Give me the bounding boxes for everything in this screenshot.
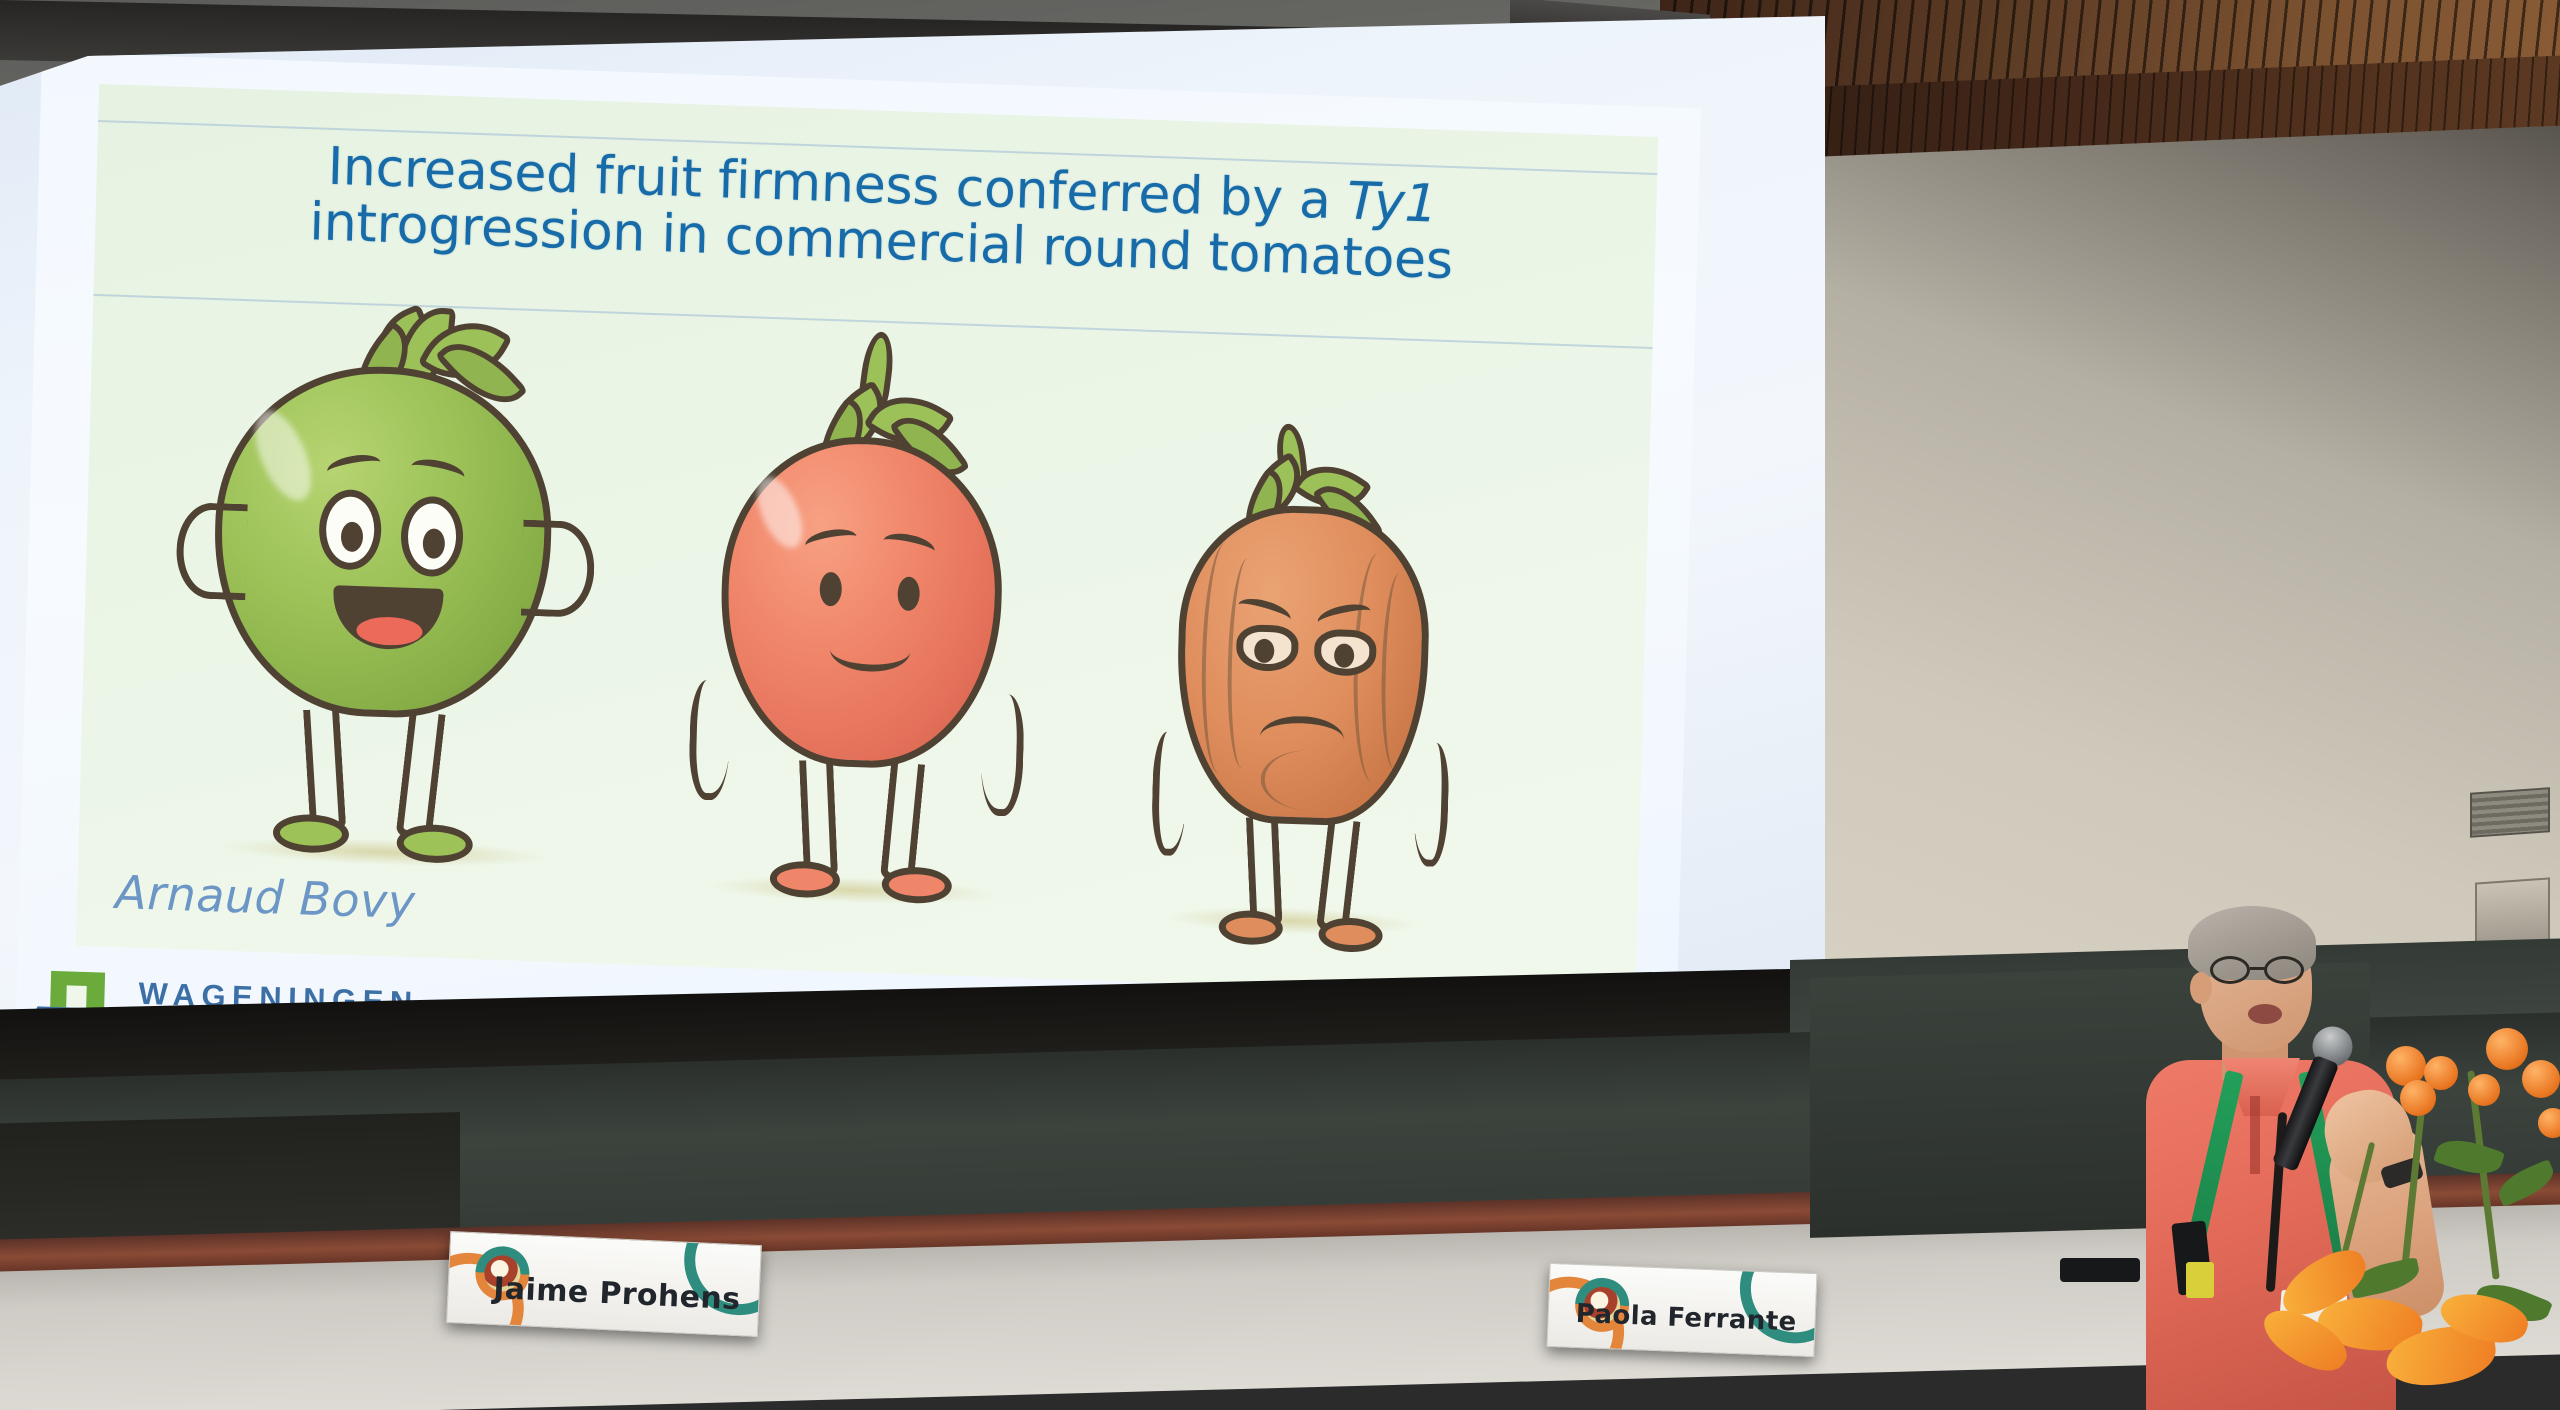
desk-cable-item <box>2060 1258 2140 1282</box>
desk-tape-item <box>2186 1262 2214 1298</box>
nameplate-paola-ferrante: Paola Ferrante <box>1546 1263 1817 1357</box>
presentation-photo-scene: Increased fruit firmness conferred by a … <box>0 0 2560 1410</box>
slide-title-gene: Ty1 <box>1346 172 1438 235</box>
wall-vent-icon <box>2470 787 2550 838</box>
nameplate-jaime-prohens: Jaime Prohens <box>446 1231 762 1337</box>
slide-title: Increased fruit firmness conferred by a … <box>135 133 1629 295</box>
glasses-icon <box>2206 956 2312 986</box>
flower-arrangement <box>2290 1050 2560 1410</box>
green-tomato-character <box>188 313 623 887</box>
slide: Increased fruit firmness conferred by a … <box>15 52 1701 1118</box>
overripe-tomato-character <box>1136 445 1489 956</box>
ripe-tomato-character <box>677 379 1071 922</box>
slide-content-area: Increased fruit firmness conferred by a … <box>76 84 1658 999</box>
polo-placket <box>2250 1096 2260 1174</box>
speaker-mouth <box>2248 1004 2282 1024</box>
slide-author: Arnaud Bovy <box>115 865 417 929</box>
